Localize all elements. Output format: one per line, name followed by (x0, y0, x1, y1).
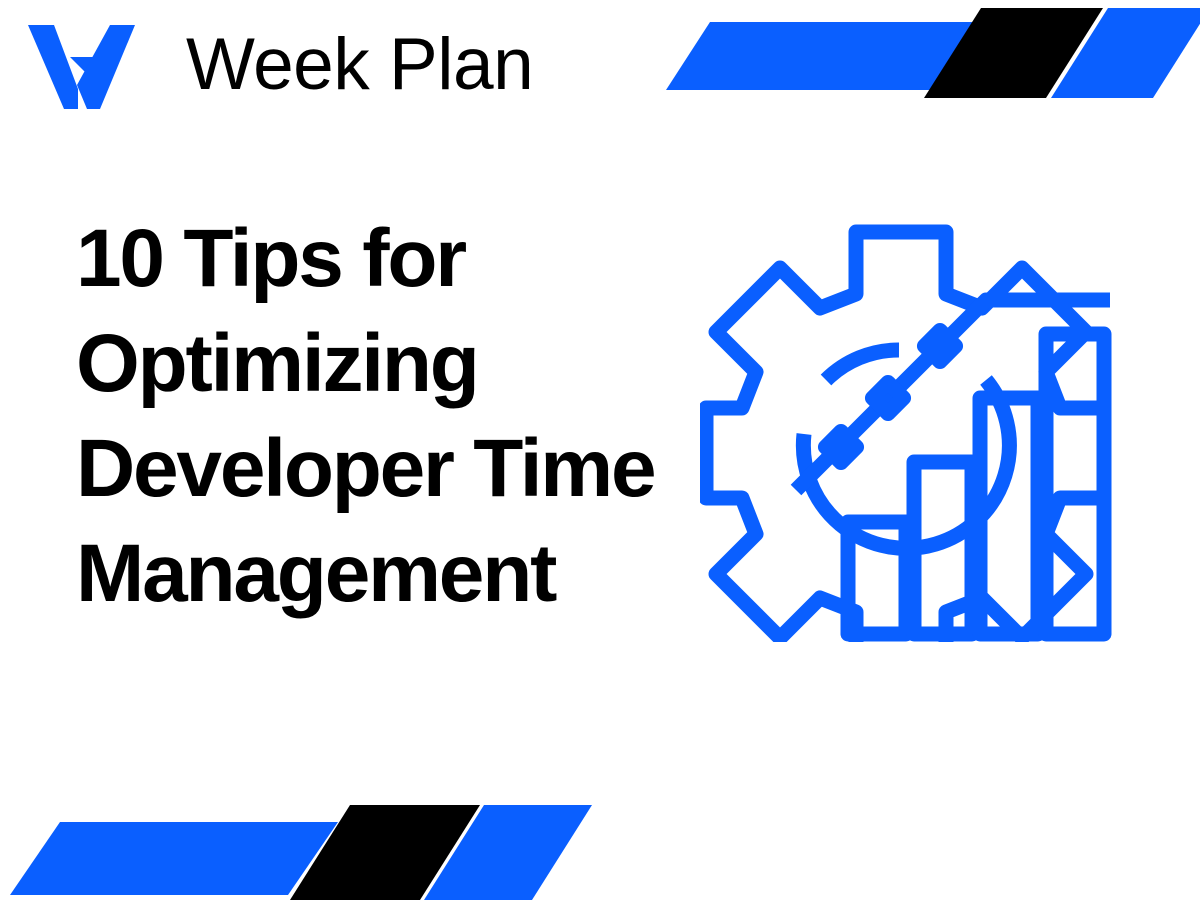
headline-line-3: Developer Time (76, 416, 716, 521)
week-plan-w-logo-icon (28, 23, 136, 109)
headline: 10 Tips for Optimizing Developer Time Ma… (76, 206, 716, 626)
featured-image-canvas: Week Plan 10 Tips for Optimizing Develop… (0, 0, 1200, 900)
bottom-left-stripe-group (0, 790, 620, 900)
stripe-blue-wide (10, 822, 338, 895)
top-right-stripe-group (648, 0, 1200, 110)
headline-line-4: Management (76, 521, 716, 626)
stripe-blue-wide (666, 22, 980, 90)
brand-wordmark: Week Plan (186, 28, 533, 101)
gear-analytics-illustration (700, 222, 1112, 642)
brand-header: Week Plan (28, 20, 533, 112)
headline-line-2: Optimizing (76, 311, 716, 416)
headline-line-1: 10 Tips for (76, 206, 716, 311)
